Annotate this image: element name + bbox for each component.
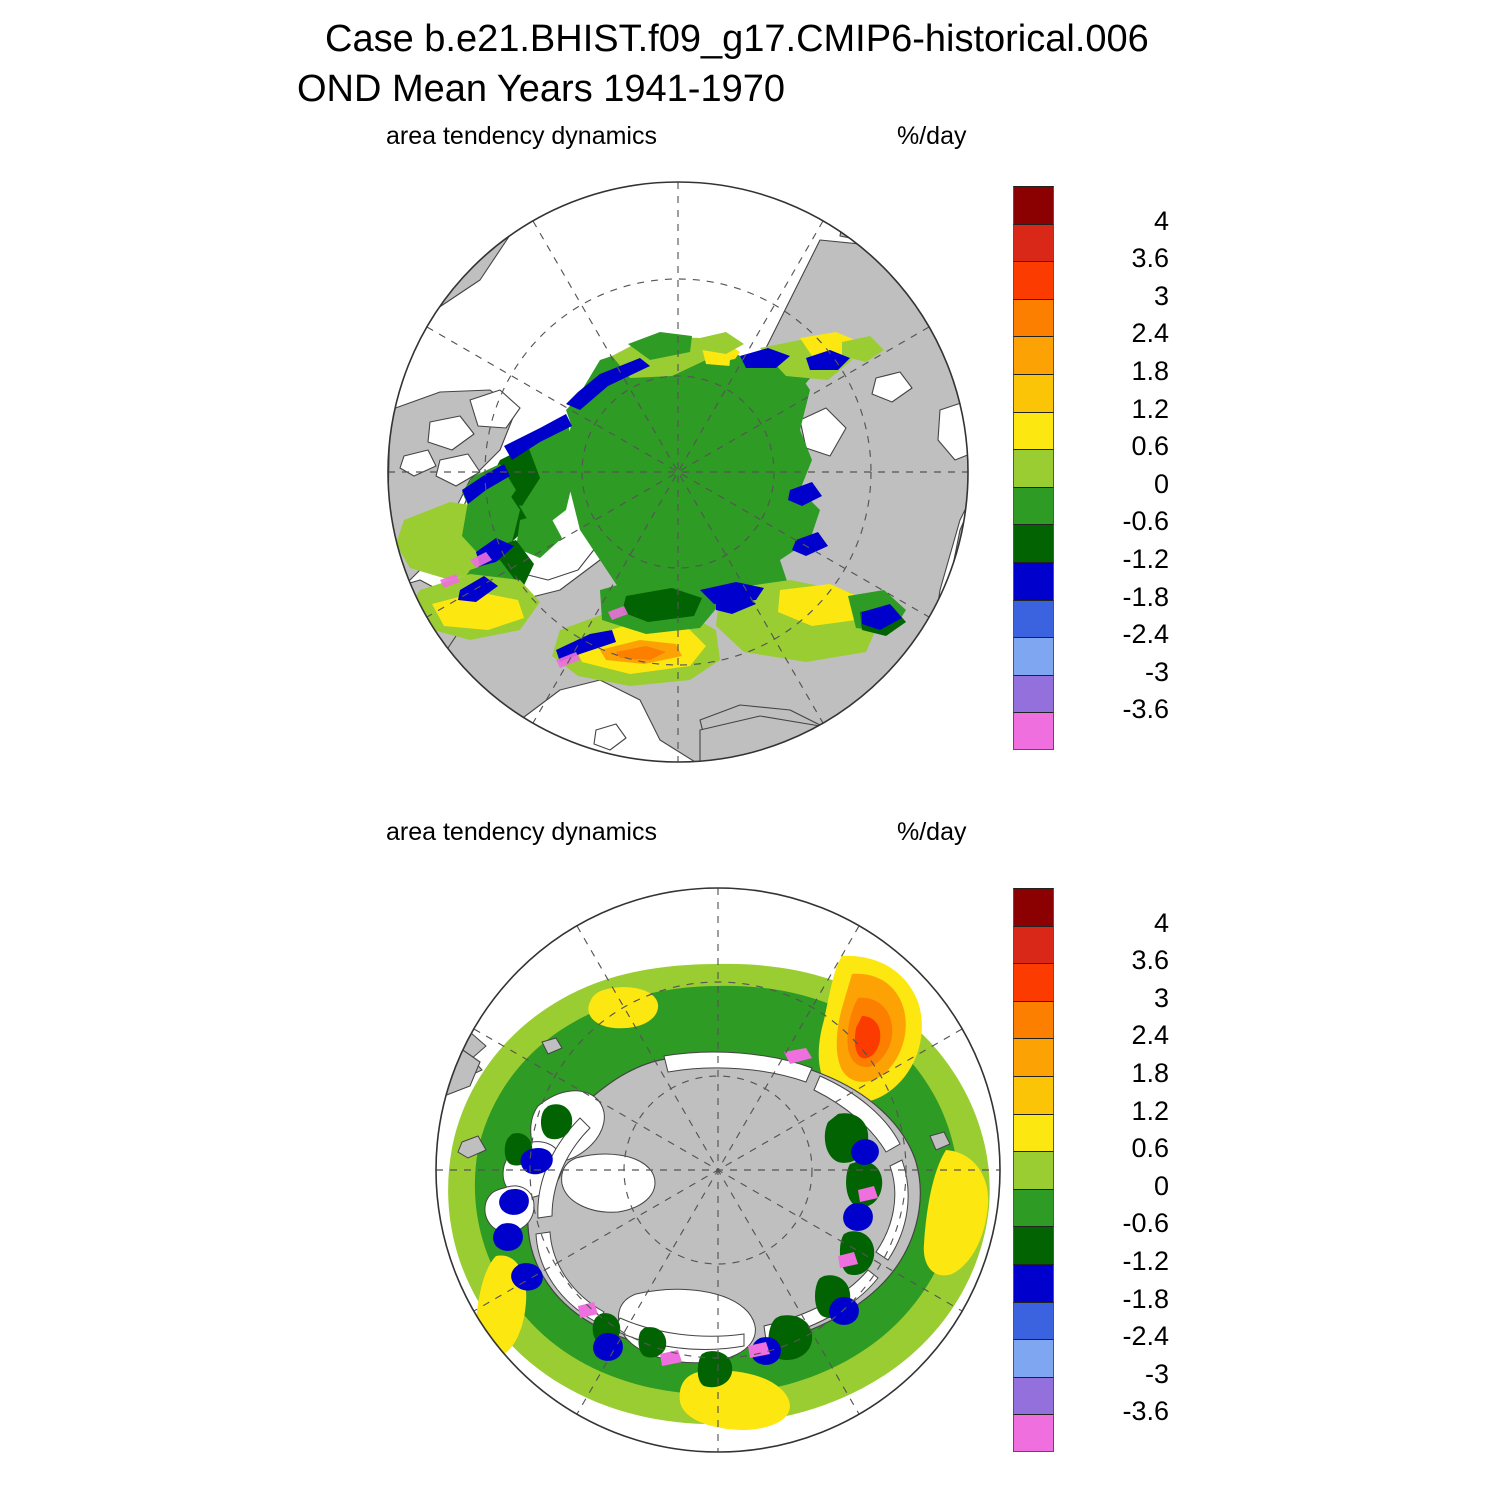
colorbar-tick-6: 0.6 [1097,431,1169,462]
colorbar-band-8 [1013,1189,1054,1227]
colorbar-tick-5: 1.2 [1097,394,1169,425]
colorbar-band-6 [1013,1114,1054,1152]
colorbar-tick-9: -1.2 [1097,1246,1169,1277]
colorbar-band-9 [1013,1226,1054,1264]
colorbar-tick-7: 0 [1097,1171,1169,1202]
colorbar-tick-6: 0.6 [1097,1133,1169,1164]
colorbar-south-labels: 43.632.41.81.20.60-0.6-1.2-1.8-2.4-3-3.6 [1059,888,1169,1452]
colorbar-tick-3: 2.4 [1097,318,1169,349]
colorbar-band-4 [1013,1038,1054,1076]
colorbar-tick-1: 3.6 [1097,945,1169,976]
colorbar-tick-2: 3 [1097,281,1169,312]
south-units-label: %/day [897,818,966,847]
colorbar-band-11 [1013,600,1054,638]
colorbar-north: 43.632.41.81.20.60-0.6-1.2-1.8-2.4-3-3.6 [1013,186,1054,750]
colorbar-band-4 [1013,336,1054,374]
south-variable-label: area tendency dynamics [386,818,657,847]
colorbar-band-14 [1013,712,1054,750]
colorbar-north-labels: 43.632.41.81.20.60-0.6-1.2-1.8-2.4-3-3.6 [1059,186,1169,750]
colorbar-tick-13: -3.6 [1097,694,1169,725]
colorbar-band-13 [1013,1377,1054,1415]
colorbar-band-1 [1013,926,1054,964]
colorbar-tick-4: 1.8 [1097,356,1169,387]
colorbar-tick-8: -0.6 [1097,1208,1169,1239]
colorbar-band-3 [1013,1001,1054,1039]
map-panel-south [0,860,1500,1480]
colorbar-band-5 [1013,374,1054,412]
colorbar-band-11 [1013,1302,1054,1340]
colorbar-band-6 [1013,412,1054,450]
colorbar-tick-12: -3 [1097,657,1169,688]
colorbar-band-2 [1013,261,1054,299]
map-panel-north [0,160,1500,780]
colorbar-tick-9: -1.2 [1097,544,1169,575]
north-units-label: %/day [897,122,966,151]
colorbar-tick-0: 4 [1097,206,1169,237]
colorbar-band-0 [1013,888,1054,926]
south-map-content [426,888,1062,1480]
colorbar-band-14 [1013,1414,1054,1452]
colorbar-tick-11: -2.4 [1097,1321,1169,1352]
colorbar-tick-13: -3.6 [1097,1396,1169,1427]
colorbar-tick-5: 1.2 [1097,1096,1169,1127]
colorbar-band-9 [1013,524,1054,562]
north-map-content [385,180,1010,780]
colorbar-band-2 [1013,963,1054,1001]
colorbar-band-8 [1013,487,1054,525]
colorbar-band-12 [1013,1339,1054,1377]
colorbar-tick-3: 2.4 [1097,1020,1169,1051]
colorbar-band-12 [1013,637,1054,675]
colorbar-band-0 [1013,186,1054,224]
page-title: Case b.e21.BHIST.f09_g17.CMIP6-historica… [325,18,1149,61]
colorbar-south-bands [1013,888,1054,1452]
colorbar-tick-7: 0 [1097,469,1169,500]
colorbar-band-7 [1013,449,1054,487]
colorbar-tick-0: 4 [1097,908,1169,939]
colorbar-tick-12: -3 [1097,1359,1169,1390]
page-subtitle: OND Mean Years 1941-1970 [297,68,785,111]
colorbar-band-7 [1013,1151,1054,1189]
colorbar-tick-11: -2.4 [1097,619,1169,650]
colorbar-band-3 [1013,299,1054,337]
south-polar-map [0,860,1500,1480]
colorbar-tick-4: 1.8 [1097,1058,1169,1089]
colorbar-tick-8: -0.6 [1097,506,1169,537]
colorbar-band-10 [1013,562,1054,600]
colorbar-band-10 [1013,1264,1054,1302]
colorbar-band-1 [1013,224,1054,262]
colorbar-band-13 [1013,675,1054,713]
colorbar-tick-1: 3.6 [1097,243,1169,274]
colorbar-north-bands [1013,186,1054,750]
north-polar-map [0,160,1500,780]
north-variable-label: area tendency dynamics [386,122,657,151]
colorbar-tick-2: 3 [1097,983,1169,1014]
colorbar-band-5 [1013,1076,1054,1114]
colorbar-tick-10: -1.8 [1097,582,1169,613]
colorbar-south: 43.632.41.81.20.60-0.6-1.2-1.8-2.4-3-3.6 [1013,888,1054,1452]
colorbar-tick-10: -1.8 [1097,1284,1169,1315]
